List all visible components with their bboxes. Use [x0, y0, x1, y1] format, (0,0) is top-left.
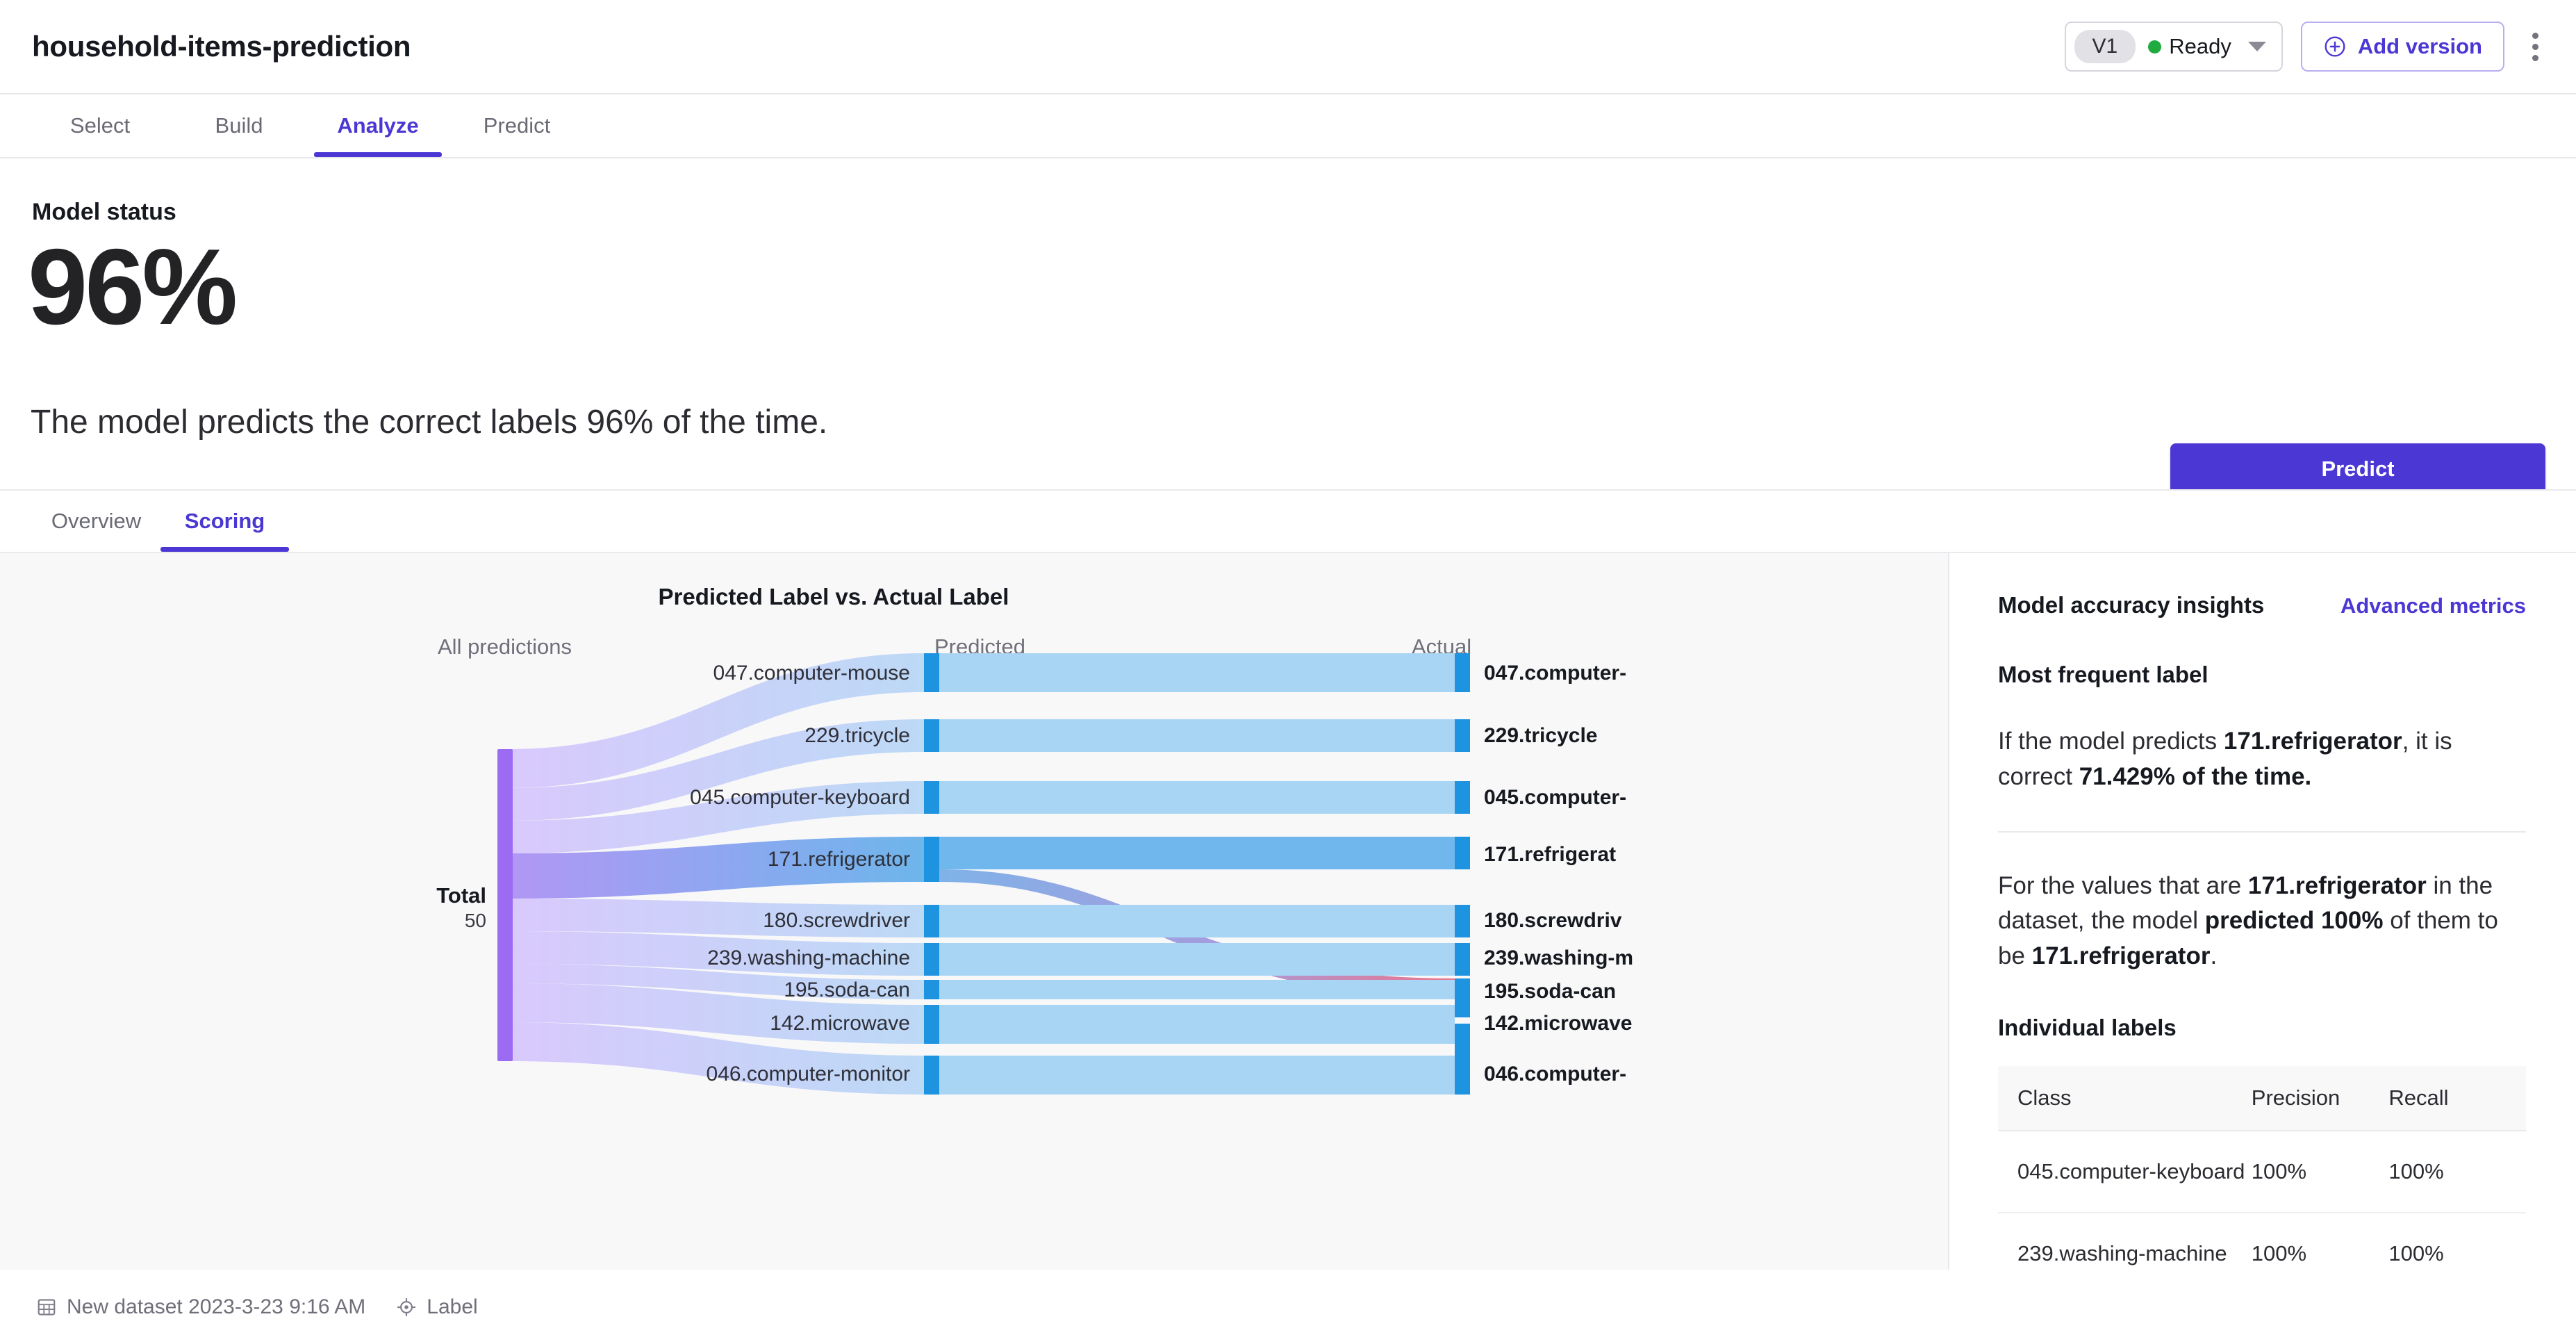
insight-p2-bold3: 171.refrigerator: [2032, 942, 2211, 969]
node-label-predicted: 047.computer-mouse: [713, 662, 910, 685]
cell-precision: 100%: [2252, 1131, 2389, 1213]
kebab-dot: [2532, 55, 2538, 61]
kebab-dot: [2532, 33, 2538, 39]
tab-overview[interactable]: Overview: [32, 491, 160, 552]
node-label-predicted: 045.computer-keyboard: [690, 786, 910, 809]
cell-recall: 100%: [2388, 1131, 2526, 1213]
sankey-link-195-soda-can[interactable]: [939, 980, 1455, 999]
advanced-metrics-link[interactable]: Advanced metrics: [2340, 593, 2526, 618]
model-status-label: Model status: [32, 199, 176, 226]
table-header: Class Precision Recall: [1998, 1066, 2526, 1131]
node-actual-180-screwdriver[interactable]: [1455, 905, 1470, 937]
tab-scoring[interactable]: Scoring: [160, 491, 289, 552]
node-predicted-229-tricycle[interactable]: [924, 719, 939, 752]
sankey-node-total[interactable]: Total 50: [436, 749, 513, 1061]
footer-label-text: Label: [427, 1295, 477, 1319]
plus-circle-icon: [2323, 35, 2347, 58]
node-actual-195-soda-can[interactable]: [1455, 978, 1470, 1017]
node-predicted-171-refrigerator[interactable]: [924, 837, 939, 882]
insight-p2-bold1: 171.refrigerator: [2248, 872, 2427, 899]
individual-labels-heading: Individual labels: [1998, 1015, 2526, 1041]
tab-predict[interactable]: Predict: [447, 95, 586, 157]
node-label-actual: 046.computer-: [1484, 1063, 1626, 1085]
node-predicted-195-soda-can[interactable]: [924, 980, 939, 999]
insight-p1-bold1: 171.refrigerator: [2224, 728, 2402, 755]
insight-p1-bold2: 71.429% of the time.: [2079, 763, 2312, 790]
node-label-predicted: 046.computer-monitor: [707, 1063, 910, 1085]
column-header-class[interactable]: Class: [1998, 1066, 2252, 1131]
cell-precision: 100%: [2252, 1213, 2389, 1270]
sankey-link-229-tricycle[interactable]: [939, 719, 1455, 752]
insight-paragraph-recall: For the values that are 171.refrigerator…: [1998, 869, 2526, 974]
footer-dataset-item[interactable]: New dataset 2023-3-23 9:16 AM: [36, 1295, 365, 1319]
node-actual-047-computer-mouse[interactable]: [1455, 653, 1470, 692]
individual-labels-table: Class Precision Recall 045.computer-keyb…: [1998, 1066, 2526, 1270]
secondary-tab-bar: Overview Scoring: [0, 489, 2576, 553]
table-grid-icon: [36, 1297, 57, 1318]
model-accuracy-value: 96%: [28, 228, 235, 347]
node-predicted-239-washing-machine[interactable]: [924, 943, 939, 976]
version-selector[interactable]: V1 Ready: [2065, 22, 2283, 72]
insight-p1-prefix: If the model predicts: [1998, 728, 2224, 755]
sankey-links-stage2: [939, 653, 1455, 1095]
node-label-predicted: 171.refrigerator: [768, 848, 910, 871]
sankey-link-047-computer-mouse[interactable]: [939, 653, 1455, 692]
node-label-actual: 180.screwdriv: [1484, 909, 1622, 932]
sankey-nodes-actual: 047.computer- 229.tricycle 045.computer-…: [1455, 653, 1633, 1095]
total-node-label: Total: [436, 883, 486, 908]
node-label-actual: 171.refrigerat: [1484, 843, 1616, 866]
tab-build[interactable]: Build: [170, 95, 308, 157]
node-label-actual: 239.washing-m: [1484, 946, 1633, 969]
insight-p2-prefix: For the values that are: [1998, 872, 2248, 899]
node-predicted-047-computer-mouse[interactable]: [924, 653, 939, 692]
status-badge: Ready: [2148, 34, 2231, 59]
node-actual-045-computer-keyboard[interactable]: [1455, 781, 1470, 814]
primary-tab-bar: Select Build Analyze Predict: [0, 95, 2576, 158]
main-content: Predicted Label vs. Actual Label All pre…: [0, 553, 2576, 1270]
node-label-predicted: 180.screwdriver: [763, 909, 910, 932]
sankey-link-180-screwdriver[interactable]: [939, 905, 1455, 937]
node-actual-229-tricycle[interactable]: [1455, 719, 1470, 752]
node-actual-046-computer-monitor[interactable]: [1455, 1056, 1470, 1095]
total-node-value: 50: [465, 910, 486, 931]
app-header: household-items-prediction V1 Ready Add …: [0, 0, 2576, 95]
node-label-predicted: 229.tricycle: [804, 724, 910, 747]
insight-p2-suffix2: .: [2210, 942, 2217, 969]
cell-recall: 100%: [2388, 1213, 2526, 1270]
cell-class: 045.computer-keyboard: [1998, 1131, 2252, 1213]
table-row[interactable]: 239.washing-machine 100% 100%: [1998, 1213, 2526, 1270]
tab-select[interactable]: Select: [31, 95, 170, 157]
node-predicted-045-computer-keyboard[interactable]: [924, 781, 939, 814]
node-label-predicted: 195.soda-can: [784, 978, 910, 1001]
insights-divider: [1998, 831, 2526, 833]
more-vertical-icon[interactable]: [2523, 26, 2548, 68]
node-predicted-180-screwdriver[interactable]: [924, 905, 939, 937]
node-label-predicted: 142.microwave: [770, 1012, 910, 1035]
cell-class: 239.washing-machine: [1998, 1213, 2252, 1270]
target-icon: [396, 1297, 417, 1318]
insight-p2-bold2: predicted 100%: [2205, 907, 2384, 934]
table-body: 045.computer-keyboard 100% 100% 239.wash…: [1998, 1131, 2526, 1270]
sankey-link-239-washing-machine[interactable]: [939, 943, 1455, 976]
insights-header: Model accuracy insights Advanced metrics: [1998, 592, 2526, 618]
node-label-predicted: 239.washing-machine: [707, 946, 910, 969]
footer-label-item[interactable]: Label: [396, 1295, 477, 1319]
chevron-down-icon[interactable]: [2248, 42, 2266, 51]
table-header-row: Class Precision Recall: [1998, 1066, 2526, 1131]
insights-title: Model accuracy insights: [1998, 592, 2264, 618]
node-predicted-046-computer-monitor[interactable]: [924, 1056, 939, 1095]
node-actual-239-washing-machine[interactable]: [1455, 943, 1470, 976]
sankey-link-171-refrigerator-correct[interactable]: [939, 837, 1455, 869]
node-label-actual: 045.computer-: [1484, 786, 1626, 809]
node-label-actual: 047.computer-: [1484, 662, 1626, 685]
sankey-link-142-microwave[interactable]: [939, 1005, 1455, 1044]
node-label-actual: 142.microwave: [1484, 1012, 1632, 1035]
node-label-actual: 195.soda-can: [1484, 980, 1616, 1003]
status-badge-label: Ready: [2169, 34, 2231, 59]
node-actual-171-refrigerator[interactable]: [1455, 837, 1470, 869]
footer-dataset-label: New dataset 2023-3-23 9:16 AM: [67, 1295, 365, 1319]
sankey-chart-pane: Predicted Label vs. Actual Label All pre…: [0, 553, 1949, 1270]
add-version-label: Add version: [2358, 34, 2482, 59]
table-row[interactable]: 045.computer-keyboard 100% 100%: [1998, 1131, 2526, 1213]
model-status-description: The model predicts the correct labels 96…: [31, 403, 827, 441]
page-title: household-items-prediction: [32, 30, 411, 63]
sankey-link-045-computer-keyboard[interactable]: [939, 781, 1455, 814]
column-header-recall[interactable]: Recall: [2388, 1066, 2526, 1131]
column-header-precision[interactable]: Precision: [2252, 1066, 2389, 1131]
tab-analyze[interactable]: Analyze: [308, 95, 447, 157]
predict-button[interactable]: Predict: [2170, 443, 2545, 494]
version-chip: V1: [2074, 30, 2136, 63]
model-status-section: Model status 96% The model predicts the …: [0, 158, 2576, 489]
header-actions: V1 Ready Add version: [2065, 22, 2548, 72]
kebab-dot: [2532, 44, 2538, 50]
add-version-button[interactable]: Add version: [2301, 22, 2504, 72]
node-predicted-142-microwave[interactable]: [924, 1005, 939, 1044]
node-label-actual: 229.tricycle: [1484, 724, 1597, 747]
status-dot-icon: [2148, 40, 2161, 54]
most-frequent-label-heading: Most frequent label: [1998, 662, 2526, 688]
footer-bar: New dataset 2023-3-23 9:16 AM Label: [0, 1270, 2576, 1344]
sankey-diagram: Total 50 047.computer-mouse 229.tricycle…: [0, 553, 1949, 1270]
insight-paragraph-precision: If the model predicts 171.refrigerator, …: [1998, 724, 2526, 795]
model-accuracy-insights-pane: Model accuracy insights Advanced metrics…: [1949, 553, 2575, 1270]
sankey-link-046-computer-monitor[interactable]: [939, 1056, 1455, 1095]
